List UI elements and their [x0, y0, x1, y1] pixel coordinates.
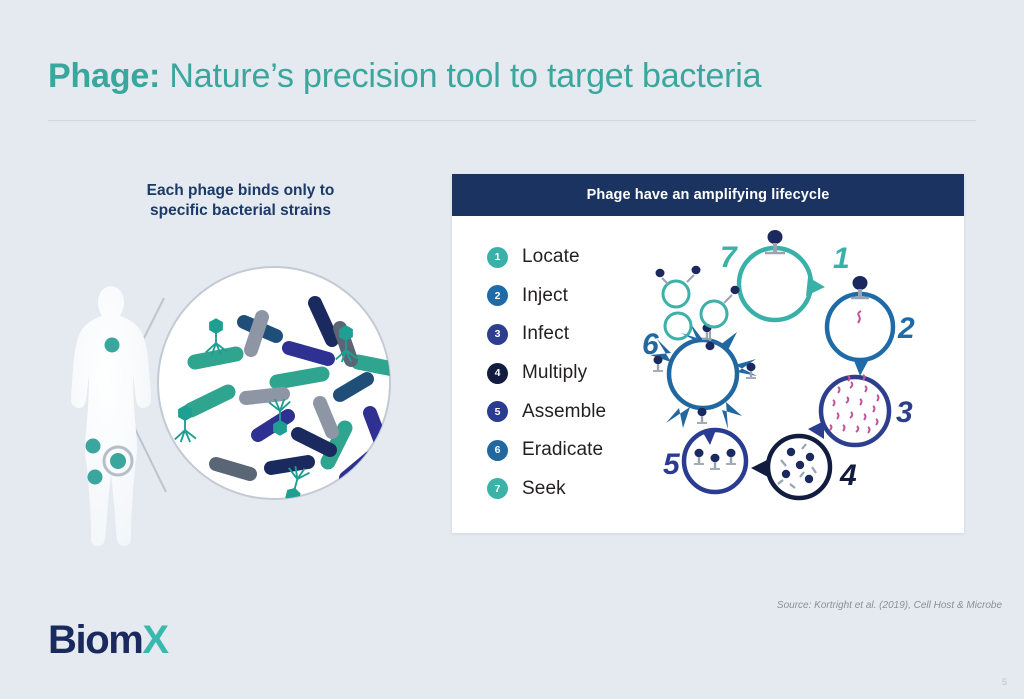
left-heading-line1: Each phage binds only to: [103, 181, 378, 201]
list-item[interactable]: 5 Assemble: [487, 392, 657, 431]
panel-header-title: Phage have an amplifying lifecycle: [587, 187, 830, 203]
stage-4-cell: [751, 436, 830, 498]
step-label-5: Assemble: [522, 401, 606, 423]
logo-x: X: [142, 618, 167, 662]
slide-root: Phage: Nature’s precision tool to target…: [0, 0, 1024, 699]
step-badge-6: 6: [487, 440, 508, 461]
stage-1-cell: [739, 230, 825, 320]
step-badge-7: 7: [487, 478, 508, 499]
step-badge-2: 2: [487, 285, 508, 306]
list-item[interactable]: 1 Locate: [487, 238, 657, 277]
stage-6-cell: [650, 323, 757, 429]
step-label-2: Inject: [522, 285, 568, 307]
logo-biom: Biom: [48, 618, 142, 662]
panel-body: 1 Locate 2 Inject 3 Infect 4 Multiply 5: [452, 216, 964, 533]
page-title-strong: Phage:: [48, 57, 160, 95]
step-badge-3: 3: [487, 324, 508, 345]
step-badge-4: 4: [487, 363, 508, 384]
stage-number-2: 2: [897, 312, 915, 345]
list-item[interactable]: 3 Infect: [487, 315, 657, 354]
stage-number-1: 1: [833, 242, 850, 275]
list-item[interactable]: 6 Eradicate: [487, 431, 657, 470]
list-item[interactable]: 2 Inject: [487, 277, 657, 316]
body-bacteria-illustration: [40, 240, 440, 585]
phage-parts: [782, 448, 814, 483]
step-label-3: Infect: [522, 323, 569, 345]
lifecycle-diagram: 1 2: [634, 222, 949, 522]
page-number: 5: [1002, 677, 1007, 687]
human-body-silhouette: [71, 286, 151, 546]
stage-number-5: 5: [663, 448, 681, 481]
stage-number-4: 4: [839, 459, 857, 492]
stage-number-6: 6: [642, 328, 659, 361]
assembled-phages: [694, 449, 736, 469]
page-title: Phage: Nature’s precision tool to target…: [48, 57, 761, 96]
dna-strand: [858, 311, 861, 323]
step-badge-5: 5: [487, 401, 508, 422]
infection-dot: [86, 439, 101, 454]
brand-logo: BiomX: [48, 618, 168, 663]
step-label-6: Eradicate: [522, 439, 603, 461]
stage-number-3: 3: [896, 396, 913, 429]
step-label-7: Seek: [522, 478, 566, 500]
left-heading-line2: specific bacterial strains: [103, 201, 378, 221]
title-divider: [48, 120, 976, 121]
step-badge-1: 1: [487, 247, 508, 268]
list-item[interactable]: 7 Seek: [487, 470, 657, 509]
panel-header: Phage have an amplifying lifecycle: [452, 174, 964, 216]
list-item[interactable]: 4 Multiply: [487, 354, 657, 393]
lifecycle-step-list: 1 Locate 2 Inject 3 Infect 4 Multiply 5: [487, 238, 657, 508]
infection-dot: [88, 470, 103, 485]
stage-number-7: 7: [720, 241, 738, 274]
stage-2-cell: [827, 276, 893, 376]
step-label-4: Multiply: [522, 362, 587, 384]
stage-3-cell: [808, 375, 889, 445]
left-heading: Each phage binds only to specific bacter…: [103, 181, 378, 221]
source-citation: Source: Kortright et al. (2019), Cell Ho…: [777, 600, 1002, 611]
lifecycle-panel: Phage have an amplifying lifecycle 1 Loc…: [452, 174, 964, 533]
stage-5-cell: [684, 430, 746, 492]
page-title-rest: Nature’s precision tool to target bacter…: [160, 57, 761, 95]
infection-dot: [105, 338, 120, 353]
step-label-1: Locate: [522, 246, 580, 268]
